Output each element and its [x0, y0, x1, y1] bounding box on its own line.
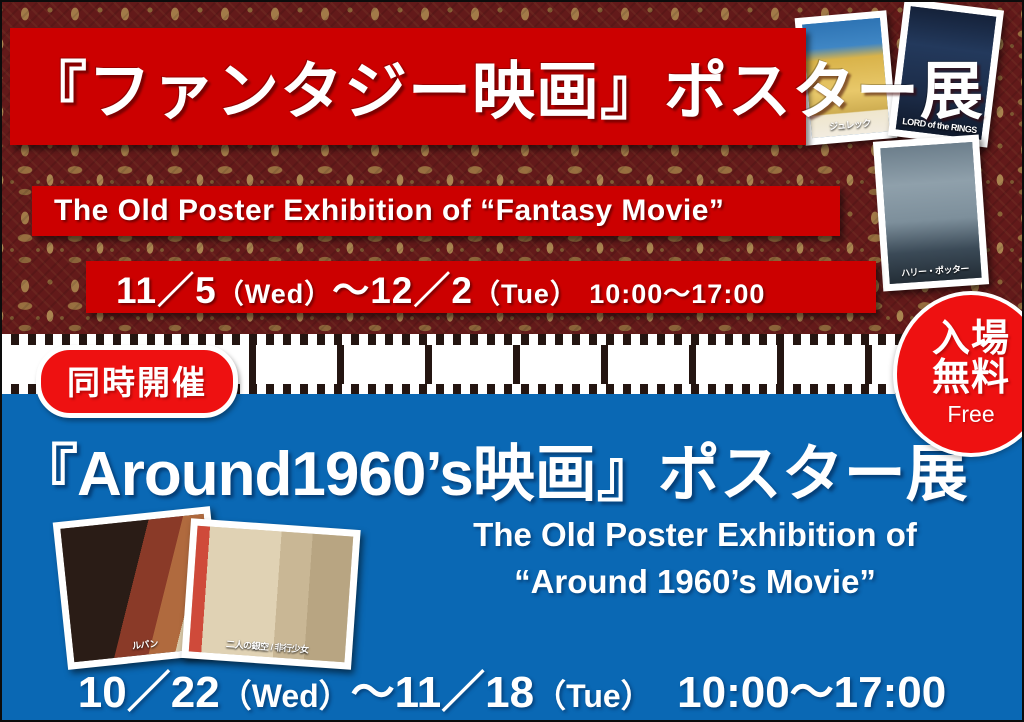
around-1960s-title-tail: ポスター展 [658, 440, 968, 509]
fantasy-date-text: 11／5（Wed）～12／2（Tue） 10:00～17:00 [116, 260, 765, 314]
fantasy-date-start: 11／5 [116, 270, 217, 311]
around-1960s-subtitle: The Old Poster Exhibition of “Around 196… [430, 512, 960, 606]
fantasy-date-end: 12／2 [370, 270, 473, 311]
fantasy-hours: 10:00～17:00 [589, 279, 765, 309]
fantasy-date-tilde: ～ [332, 270, 370, 311]
fantasy-subtitle-text: The Old Poster Exhibition of “Fantasy Mo… [54, 194, 724, 228]
simultaneous-event-badge: 同時開催 [36, 345, 238, 418]
fantasy-date-end-day: （Tue） [473, 279, 578, 309]
around-1960s-date-start-day: （Wed） [220, 678, 351, 714]
harry-potter-poster-caption: ハリー・ポッター [889, 261, 982, 280]
fantasy-subtitle-banner: The Old Poster Exhibition of “Fantasy Mo… [32, 186, 840, 236]
around-1960s-title-quote-open: 『 [16, 440, 77, 509]
fantasy-date-start-day: （Wed） [217, 279, 333, 309]
around-1960s-title-main: Around1960’s [77, 440, 473, 509]
around-1960s-hours: 10:00～17:00 [677, 668, 946, 717]
free-admission-line1: 入場 [932, 320, 1010, 359]
ginga-hikojoshi-poster-caption: 二人の銀空 / 非行少女 [189, 634, 346, 658]
poster-canvas: ジュレック LORD of the RINGS ハリー・ポッター 『ファンタジー… [0, 0, 1024, 722]
fantasy-title-banner: 『ファンタジー映画』ポスター展 [10, 28, 806, 145]
around-1960s-title-quote-close: 』 [597, 440, 658, 509]
filmstrip-perforations-top [0, 334, 1024, 345]
around-1960s-title-jp: 映画 [473, 440, 597, 509]
simultaneous-event-label: 同時開催 [67, 364, 207, 401]
ginga-hikojoshi-poster-image: 二人の銀空 / 非行少女 [189, 526, 353, 663]
around-1960s-date-text: 10／22（Wed）～11／18（Tue） 10:00～17:00 [0, 656, 1024, 720]
ginga-hikojoshi-poster-photo: 二人の銀空 / 非行少女 [181, 518, 360, 670]
harry-potter-poster-image: ハリー・ポッター [880, 142, 981, 284]
around-1960s-date-start: 10／22 [78, 668, 220, 717]
fantasy-title-text: 『ファンタジー映画』ポスター展 [24, 41, 984, 132]
harry-potter-poster-photo: ハリー・ポッター [873, 134, 989, 291]
around-1960s-subtitle-line2: “Around 1960’s Movie” [430, 559, 960, 606]
around-1960s-date-end: 11／18 [395, 668, 534, 717]
free-admission-line2: 無料 [932, 359, 1010, 398]
around-1960s-subtitle-line1: The Old Poster Exhibition of [430, 512, 960, 559]
around-1960s-date-tilde: ～ [351, 668, 395, 717]
fantasy-date-banner: 11／5（Wed）～12／2（Tue） 10:00～17:00 [86, 261, 876, 313]
free-admission-line3: Free [947, 401, 994, 428]
around-1960s-title: 『Around1960’s映画』ポスター展 [16, 423, 968, 513]
around-1960s-date-end-day: （Tue） [534, 678, 653, 714]
